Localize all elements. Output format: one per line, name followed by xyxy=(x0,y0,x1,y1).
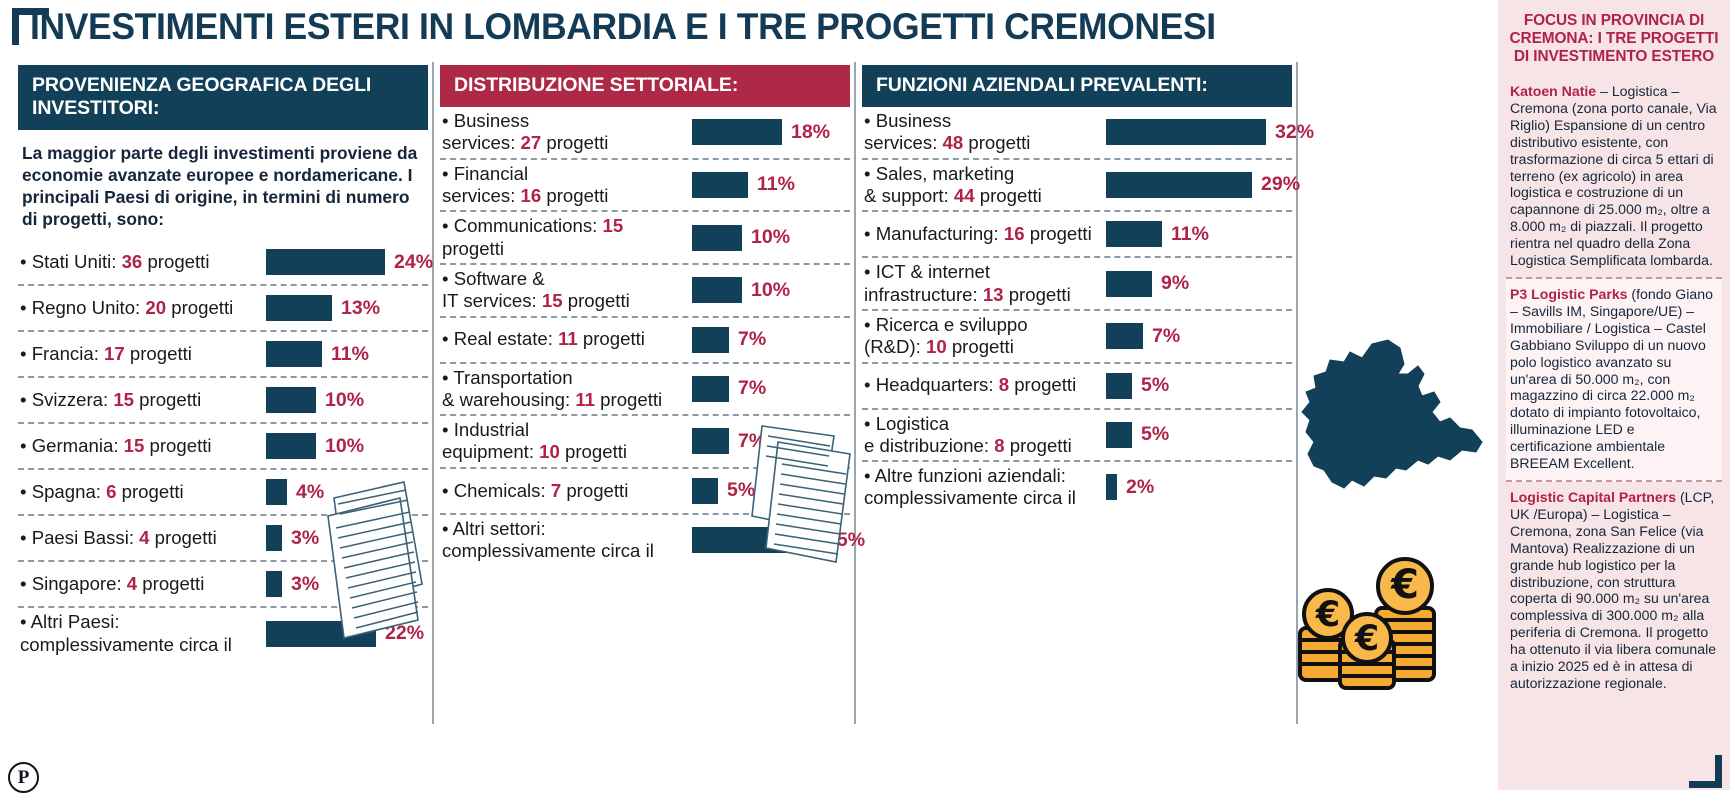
data-row: • Regno Unito: 20 progetti13% xyxy=(18,286,428,332)
row-bar-cell: 4% xyxy=(266,479,428,505)
row-label: • Germania: 15 progetti xyxy=(18,435,266,457)
row-label: • Altri Paesi: complessivamente circa il xyxy=(18,611,266,656)
bullet-icon: • xyxy=(864,261,876,282)
column-settori: DISTRIBUZIONE SETTORIALE: • Business ser… xyxy=(440,65,850,565)
row-percent: 22% xyxy=(385,622,424,645)
svg-text:€: € xyxy=(1315,595,1340,635)
row-bar-cell: 29% xyxy=(1100,172,1300,198)
row-count: 11 xyxy=(575,389,595,410)
row-percent: 7% xyxy=(738,328,766,351)
row-bar-cell: 5% xyxy=(686,478,850,504)
bullet-icon: • xyxy=(20,527,32,548)
row-bar xyxy=(266,387,316,413)
column-intro-text: La maggior parte degli investimenti prov… xyxy=(18,130,428,240)
bullet-icon: • xyxy=(864,223,876,244)
row-bar xyxy=(266,479,287,505)
row-count: 44 xyxy=(954,185,975,206)
row-count: 16 xyxy=(1004,223,1025,244)
row-label: • Financial services: 16 progetti xyxy=(440,163,686,208)
row-bar-cell: 11% xyxy=(266,341,428,367)
data-row: • Stati Uniti: 36 progetti24% xyxy=(18,240,428,286)
row-bar-cell: 5% xyxy=(1100,422,1292,448)
data-row: • Paesi Bassi: 4 progetti3% xyxy=(18,516,428,562)
data-row: • Business services: 27 progetti18% xyxy=(440,107,850,160)
row-percent: 18% xyxy=(791,121,830,144)
data-row: • Manufacturing: 16 progetti11% xyxy=(862,212,1292,258)
row-count: 15 xyxy=(542,290,563,311)
row-bar xyxy=(692,172,748,198)
row-bar-cell: 25% xyxy=(686,527,865,553)
column-header-funzioni: FUNZIONI AZIENDALI PREVALENTI: xyxy=(862,65,1292,107)
row-percent: 11% xyxy=(331,343,369,366)
row-percent: 10% xyxy=(751,279,790,302)
focus-panel-title: FOCUS IN PROVINCIA DI CREMONA: I TRE PRO… xyxy=(1506,8,1722,76)
bullet-icon: • xyxy=(864,110,876,131)
row-bar xyxy=(266,341,322,367)
row-label: • Software & IT services: 15 progetti xyxy=(440,268,686,313)
data-row: • Financial services: 16 progetti11% xyxy=(440,160,850,213)
infographic-page: INVESTIMENTI ESTERI IN LOMBARDIA E I TRE… xyxy=(0,0,1735,805)
row-bar xyxy=(266,295,332,321)
bullet-icon: • xyxy=(20,611,31,632)
row-bar-cell: 10% xyxy=(686,277,850,303)
bullet-icon: • xyxy=(864,374,876,395)
row-bar-cell: 13% xyxy=(266,295,428,321)
row-bar xyxy=(692,428,729,454)
row-percent: 3% xyxy=(291,527,319,550)
data-row: • Communications: 15 progetti10% xyxy=(440,212,850,265)
row-bar xyxy=(692,277,742,303)
row-label: • Svizzera: 15 progetti xyxy=(18,389,266,411)
row-count: 4 xyxy=(127,573,137,594)
row-bar-cell: 22% xyxy=(266,621,428,647)
bullet-icon: • xyxy=(442,419,454,440)
bullet-icon: • xyxy=(864,465,875,486)
data-row: • Altre funzioni aziendali: complessivam… xyxy=(862,462,1292,513)
row-bar xyxy=(266,249,385,275)
row-list-provenienza: • Stati Uniti: 36 progetti24%• Regno Uni… xyxy=(18,240,428,659)
row-label: • Altre funzioni aziendali: complessivam… xyxy=(862,465,1100,510)
data-row: • Singapore: 4 progetti3% xyxy=(18,562,428,608)
row-percent: 10% xyxy=(751,226,790,249)
row-count: 17 xyxy=(104,343,125,364)
row-bar-cell: 10% xyxy=(266,387,428,413)
row-label: • Communications: 15 progetti xyxy=(440,215,686,260)
data-row: • Francia: 17 progetti11% xyxy=(18,332,428,378)
bullet-icon: • xyxy=(442,163,454,184)
row-count: 6 xyxy=(106,481,116,502)
focus-block-name: P3 Logistic Parks xyxy=(1510,286,1628,302)
focus-block: Katoen Natie – Logistica – Cremona (zona… xyxy=(1506,76,1722,279)
row-count: 20 xyxy=(145,297,166,318)
data-row: • Headquarters: 8 progetti5% xyxy=(862,364,1292,410)
row-count: 36 xyxy=(122,251,143,272)
row-bar xyxy=(1106,373,1132,399)
row-count: 10 xyxy=(539,441,560,462)
bullet-icon: • xyxy=(20,481,32,502)
focus-blocks: Katoen Natie – Logistica – Cremona (zona… xyxy=(1506,76,1722,700)
bullet-icon: • xyxy=(442,328,454,349)
row-count: 48 xyxy=(943,132,964,153)
row-label: • ICT & internet infrastructure: 13 prog… xyxy=(862,261,1100,306)
row-label: • Singapore: 4 progetti xyxy=(18,573,266,595)
logo-letter: P xyxy=(18,768,30,787)
row-bar-cell: 9% xyxy=(1100,271,1292,297)
svg-text:€: € xyxy=(1354,619,1379,659)
data-row: • Transportation & warehousing: 11 proge… xyxy=(440,364,850,417)
row-bar xyxy=(1106,422,1132,448)
row-count: 11 xyxy=(558,328,578,349)
row-list-settori: • Business services: 27 progetti18%• Fin… xyxy=(440,107,850,565)
euro-coins-icon: € € € xyxy=(1290,548,1450,698)
row-bar-cell: 3% xyxy=(266,525,428,551)
row-percent: 5% xyxy=(1141,423,1169,446)
bullet-icon: • xyxy=(20,573,32,594)
row-bar-cell: 11% xyxy=(686,172,850,198)
bullet-icon: • xyxy=(20,343,32,364)
row-count: 27 xyxy=(521,132,542,153)
row-bar-cell: 10% xyxy=(686,225,850,251)
bullet-icon: • xyxy=(442,110,454,131)
column-header-settori: DISTRIBUZIONE SETTORIALE: xyxy=(440,65,850,107)
row-percent: 4% xyxy=(296,481,324,504)
row-count: 13 xyxy=(983,284,1004,305)
row-percent: 25% xyxy=(826,529,865,552)
row-label: • Sales, marketing & support: 44 progett… xyxy=(862,163,1100,208)
row-label: • Paesi Bassi: 4 progetti xyxy=(18,527,266,549)
row-bar-cell: 7% xyxy=(686,327,850,353)
row-bar xyxy=(266,571,282,597)
data-row: • Logistica e distribuzione: 8 progetti5… xyxy=(862,410,1292,463)
row-label: • Industrial equipment: 10 progetti xyxy=(440,419,686,464)
row-count: 15 xyxy=(603,215,624,236)
row-percent: 5% xyxy=(1141,374,1169,397)
row-percent: 7% xyxy=(738,377,766,400)
bullet-icon: • xyxy=(20,389,32,410)
bullet-icon: • xyxy=(20,251,32,272)
data-row: • Germania: 15 progetti10% xyxy=(18,424,428,470)
row-bar-cell: 32% xyxy=(1100,119,1314,145)
column-separator xyxy=(432,62,434,724)
row-bar-cell: 18% xyxy=(686,119,850,145)
data-row: • Real estate: 11 progetti7% xyxy=(440,318,850,364)
data-row: • Ricerca e sviluppo (R&D): 10 progetti7… xyxy=(862,311,1292,364)
row-label: • Regno Unito: 20 progetti xyxy=(18,297,266,319)
row-bar xyxy=(692,478,718,504)
data-row: • Altri settori: complessivamente circa … xyxy=(440,515,850,566)
bullet-icon: • xyxy=(442,215,454,236)
row-percent: 10% xyxy=(325,435,364,458)
row-bar-cell: 3% xyxy=(266,571,428,597)
row-percent: 2% xyxy=(1126,476,1154,499)
svg-text:€: € xyxy=(1390,562,1419,608)
row-bar xyxy=(1106,119,1266,145)
bullet-icon: • xyxy=(20,435,32,456)
data-row: • Sales, marketing & support: 44 progett… xyxy=(862,160,1292,213)
data-row: • Svizzera: 15 progetti10% xyxy=(18,378,428,424)
row-bar xyxy=(692,527,817,553)
row-percent: 29% xyxy=(1261,173,1300,196)
data-row: • Business services: 48 progetti32% xyxy=(862,107,1292,160)
row-label: • Stati Uniti: 36 progetti xyxy=(18,251,266,273)
bullet-icon: • xyxy=(20,297,32,318)
data-row: • Software & IT services: 15 progetti10% xyxy=(440,265,850,318)
row-count: 16 xyxy=(521,185,542,206)
row-bar xyxy=(692,225,742,251)
row-bar xyxy=(266,525,282,551)
row-percent: 5% xyxy=(727,479,755,502)
row-percent: 7% xyxy=(738,430,766,453)
row-percent: 13% xyxy=(341,297,380,320)
row-bar xyxy=(1106,172,1252,198)
bullet-icon: • xyxy=(442,367,453,388)
column-separator xyxy=(854,62,856,724)
title-area: INVESTIMENTI ESTERI IN LOMBARDIA E I TRE… xyxy=(10,6,1270,58)
row-bar-cell: 10% xyxy=(266,433,428,459)
column-header-provenienza: PROVENIENZA GEOGRAFICA DEGLI INVESTITORI… xyxy=(18,65,428,130)
row-bar xyxy=(266,621,376,647)
row-label: • Real estate: 11 progetti xyxy=(440,328,686,350)
row-percent: 24% xyxy=(394,251,433,274)
bullet-icon: • xyxy=(864,314,876,335)
bullet-icon: • xyxy=(442,268,454,289)
corner-bracket-icon xyxy=(1689,755,1722,788)
page-title: INVESTIMENTI ESTERI IN LOMBARDIA E I TRE… xyxy=(30,6,1216,48)
data-row: • Industrial equipment: 10 progetti7% xyxy=(440,416,850,469)
row-label: • Altri settori: complessivamente circa … xyxy=(440,518,686,563)
row-bar-cell: 7% xyxy=(686,428,850,454)
row-count: 8 xyxy=(999,374,1009,395)
row-bar-cell: 7% xyxy=(1100,323,1292,349)
row-bar xyxy=(692,327,729,353)
row-count: 15 xyxy=(113,389,134,410)
data-row: • ICT & internet infrastructure: 13 prog… xyxy=(862,258,1292,311)
focus-block: P3 Logistic Parks (fondo Giano – Savills… xyxy=(1506,279,1722,482)
row-percent: 10% xyxy=(325,389,364,412)
row-count: 4 xyxy=(139,527,149,548)
focus-block-name: Katoen Natie xyxy=(1510,83,1596,99)
focus-block: Logistic Capital Partners (LCP, UK /Euro… xyxy=(1506,482,1722,700)
data-row: • Spagna: 6 progetti4% xyxy=(18,470,428,516)
bullet-icon: • xyxy=(864,163,876,184)
row-bar-cell: 7% xyxy=(686,376,850,402)
focus-block-name: Logistic Capital Partners xyxy=(1510,489,1676,505)
row-bar xyxy=(1106,221,1162,247)
row-bar-cell: 24% xyxy=(266,249,433,275)
row-label: • Francia: 17 progetti xyxy=(18,343,266,365)
row-percent: 3% xyxy=(291,573,319,596)
row-bar xyxy=(1106,323,1143,349)
row-percent: 9% xyxy=(1161,272,1189,295)
data-row: • Chemicals: 7 progetti5% xyxy=(440,469,850,515)
column-funzioni: FUNZIONI AZIENDALI PREVALENTI: • Busines… xyxy=(862,65,1292,513)
lombardy-map-icon xyxy=(1300,330,1500,520)
row-bar xyxy=(692,119,782,145)
row-bar xyxy=(1106,271,1152,297)
row-percent: 32% xyxy=(1275,121,1314,144)
row-count: 15 xyxy=(124,435,145,456)
row-bar xyxy=(692,376,729,402)
bullet-icon: • xyxy=(864,413,876,434)
row-bar xyxy=(1106,474,1117,500)
bullet-icon: • xyxy=(442,480,454,501)
focus-panel: FOCUS IN PROVINCIA DI CREMONA: I TRE PRO… xyxy=(1498,0,1730,790)
row-bar-cell: 11% xyxy=(1100,221,1292,247)
row-label: • Headquarters: 8 progetti xyxy=(862,374,1100,396)
row-bar-cell: 5% xyxy=(1100,373,1292,399)
row-percent: 11% xyxy=(1171,223,1209,246)
row-label: • Spagna: 6 progetti xyxy=(18,481,266,503)
column-provenienza: PROVENIENZA GEOGRAFICA DEGLI INVESTITORI… xyxy=(18,65,428,659)
publisher-logo: P xyxy=(8,762,39,793)
row-count: 7 xyxy=(551,480,561,501)
row-label: • Business services: 48 progetti xyxy=(862,110,1100,155)
row-list-funzioni: • Business services: 48 progetti32%• Sal… xyxy=(862,107,1292,513)
row-bar xyxy=(266,433,316,459)
row-count: 8 xyxy=(994,435,1004,456)
row-count: 10 xyxy=(926,336,947,357)
data-row: • Altri Paesi: complessivamente circa il… xyxy=(18,608,428,659)
row-percent: 11% xyxy=(757,173,795,196)
row-label: • Ricerca e sviluppo (R&D): 10 progetti xyxy=(862,314,1100,359)
row-label: • Logistica e distribuzione: 8 progetti xyxy=(862,413,1100,458)
column-separator xyxy=(1296,62,1298,724)
row-label: • Chemicals: 7 progetti xyxy=(440,480,686,502)
row-label: • Business services: 27 progetti xyxy=(440,110,686,155)
bullet-icon: • xyxy=(442,518,453,539)
row-bar-cell: 2% xyxy=(1100,474,1292,500)
row-label: • Manufacturing: 16 progetti xyxy=(862,223,1100,245)
row-label: • Transportation & warehousing: 11 proge… xyxy=(440,367,686,412)
row-percent: 7% xyxy=(1152,325,1180,348)
